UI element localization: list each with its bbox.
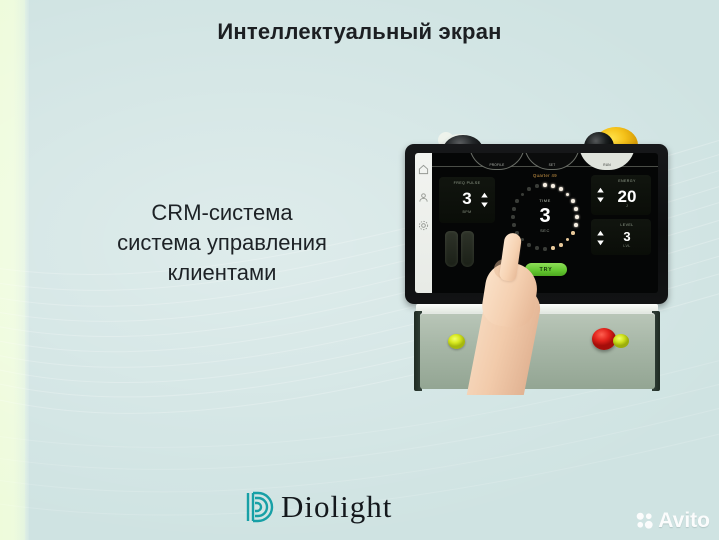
frequency-caption: FREQ PULSE: [439, 181, 495, 185]
timer-cluster: Quarter 49 TIME 3 SEC TRY: [499, 171, 591, 281]
timer-value: 3: [499, 205, 591, 227]
slide-root: Интеллектуальный экран CRM-система систе…: [0, 0, 719, 540]
level-unit: LVL: [603, 244, 651, 248]
tab-run[interactable]: RUN: [579, 153, 635, 170]
level-value: 3: [603, 229, 651, 244]
tab-set[interactable]: SET: [524, 153, 580, 170]
frequency-stepper[interactable]: [480, 192, 489, 208]
device-base: [420, 313, 655, 389]
brand-logo: Diolight: [243, 489, 392, 525]
body-line-3: клиентами: [72, 258, 372, 288]
body-line-1: CRM-система: [72, 198, 372, 228]
level-caption: LEVEL: [603, 223, 651, 227]
home-icon[interactable]: [418, 164, 429, 175]
try-button[interactable]: TRY: [525, 263, 567, 276]
frequency-panel[interactable]: FREQ PULSE 3 BPM: [439, 177, 495, 223]
yellow-button[interactable]: [448, 334, 465, 349]
energy-stepper[interactable]: [596, 187, 605, 203]
energy-panel[interactable]: ENERGY 20 J: [591, 175, 651, 215]
body-line-2: система управления: [72, 228, 372, 258]
timer-caption: Quarter 49: [499, 173, 591, 178]
settings-icon[interactable]: [418, 220, 429, 231]
screen-tabs: PROFILE SET RUN: [432, 153, 658, 172]
energy-unit: J: [603, 204, 651, 208]
level-panel[interactable]: LEVEL 3 LVL: [591, 219, 651, 255]
tab-profile[interactable]: PROFILE: [469, 153, 525, 170]
brand-logo-text: Diolight: [281, 489, 392, 525]
diolight-d-mark: [243, 489, 277, 525]
energy-caption: ENERGY: [603, 179, 651, 183]
timer-label: TIME: [499, 198, 591, 203]
page-title: Интеллектуальный экран: [0, 19, 719, 45]
avito-watermark: Avito: [636, 510, 710, 531]
avito-dots-icon: [636, 512, 653, 529]
screen-bezel: PROFILE SET RUN FREQ PULSE 3 BPM: [405, 144, 668, 304]
avito-watermark-text: Avito: [658, 510, 710, 531]
frequency-unit: BPM: [439, 210, 495, 214]
body-diagram: [445, 231, 475, 267]
yellow-button-small[interactable]: [613, 334, 629, 348]
device-illustration: PROFILE SET RUN FREQ PULSE 3 BPM: [398, 118, 688, 393]
body-copy: CRM-система система управления клиентами: [72, 198, 372, 288]
body-diagram-left: [445, 231, 458, 267]
body-diagram-right: [461, 231, 474, 267]
user-icon[interactable]: [418, 192, 429, 203]
level-stepper[interactable]: [596, 230, 605, 246]
timer-unit: SEC: [499, 228, 591, 233]
device-screen: PROFILE SET RUN FREQ PULSE 3 BPM: [415, 153, 658, 293]
screen-sidebar: [415, 153, 432, 293]
